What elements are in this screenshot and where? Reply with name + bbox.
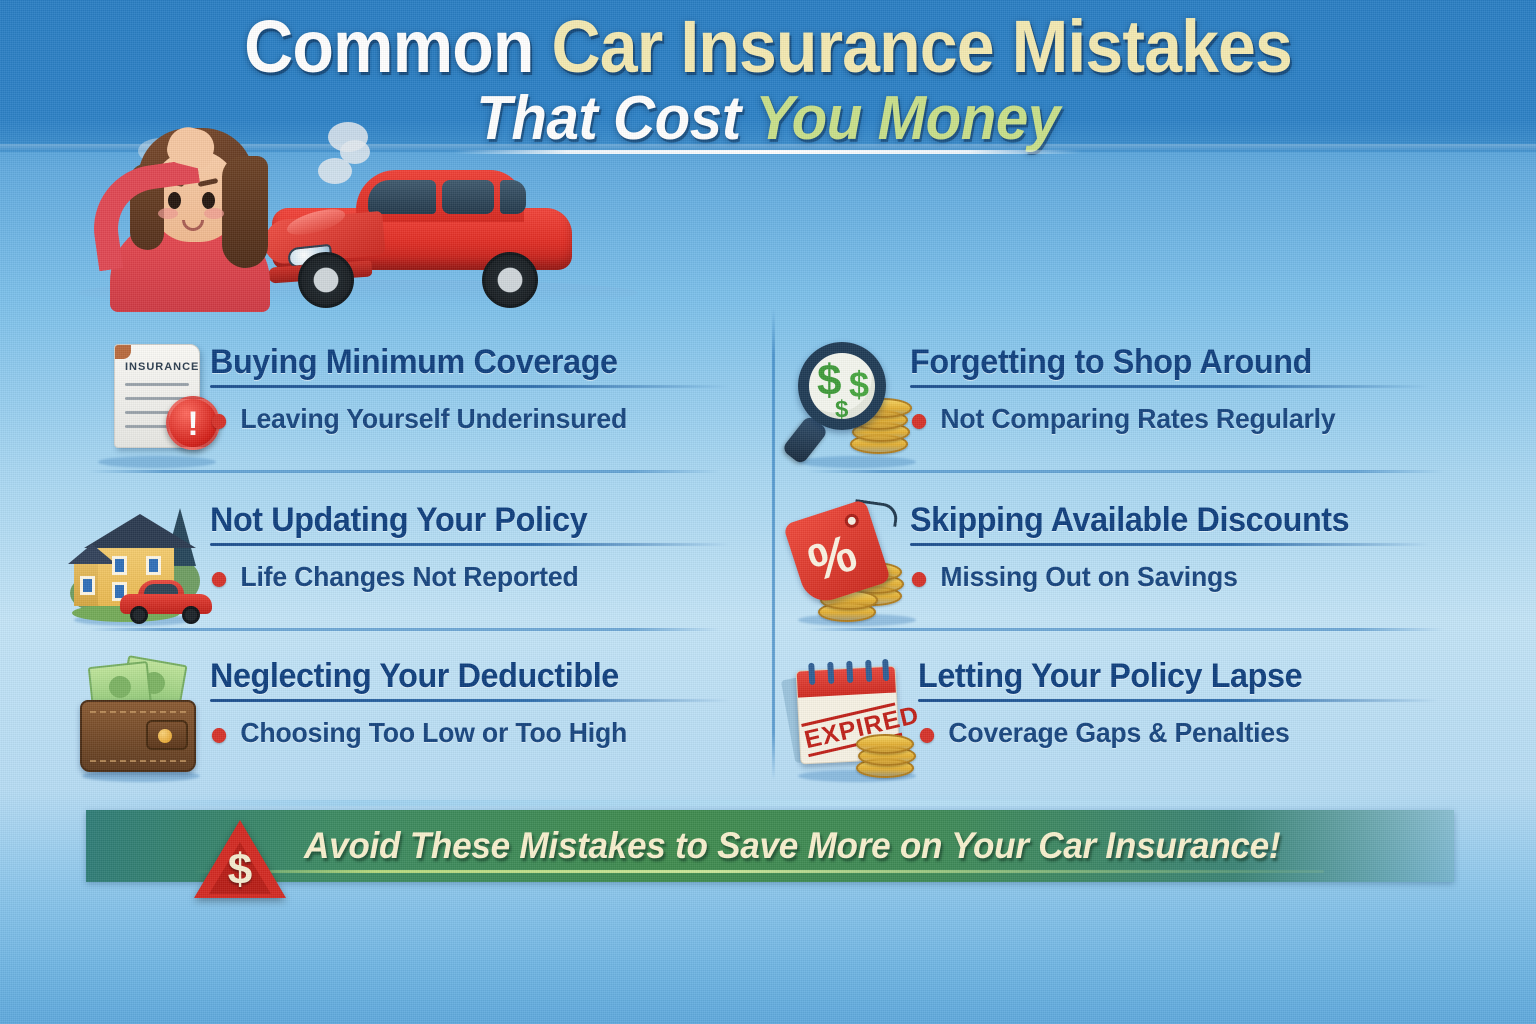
calendar-ring-1 bbox=[808, 663, 815, 685]
mistake-item-neglecting-your-deductible[interactable]: Neglecting Your Deductible Choosing Too … bbox=[76, 648, 776, 798]
dollar-sign-small: $ bbox=[835, 397, 848, 423]
car-window-rear bbox=[500, 180, 526, 214]
title-underline-rule bbox=[454, 150, 1082, 154]
car-tyre-rear bbox=[182, 606, 200, 624]
mistake-subtitle: Not Comparing Rates Regularly bbox=[910, 402, 1461, 436]
mistake-item-letting-your-policy-lapse[interactable]: EXPIRED Letting Your Policy Lapse Covera… bbox=[792, 648, 1492, 798]
house-window-1 bbox=[112, 556, 127, 575]
banknote-oval bbox=[108, 675, 132, 699]
mistake-item-skipping-available-discounts[interactable]: % Skipping Available Discounts Missing O… bbox=[792, 492, 1492, 642]
mistake-title: Neglecting Your Deductible bbox=[210, 656, 761, 696]
document-label: INSURANCE bbox=[125, 361, 199, 373]
mistake-subtitle-text: Missing Out on Savings bbox=[940, 561, 1237, 592]
infographic-poster: Common Car Insurance Mistakes That Cost … bbox=[0, 0, 1536, 1024]
house-and-car-icon bbox=[68, 498, 208, 628]
mistake-text-block: Letting Your Policy Lapse Coverage Gaps … bbox=[918, 656, 1498, 750]
coin bbox=[856, 734, 914, 754]
magnifier-lens: $ $ $ bbox=[798, 342, 886, 430]
document-corner-fold bbox=[115, 345, 131, 359]
mistake-subtitle: Leaving Yourself Underinsured bbox=[210, 402, 761, 436]
document-line-1 bbox=[125, 383, 189, 386]
expired-calendar-coins-icon: EXPIRED bbox=[792, 654, 932, 784]
title-rule bbox=[210, 699, 730, 702]
poster-title-line-1: Common Car Insurance Mistakes bbox=[61, 6, 1474, 88]
mistake-title: Letting Your Policy Lapse bbox=[918, 656, 1469, 696]
title-part-car-insurance-mistakes: Car Insurance Mistakes bbox=[552, 5, 1292, 88]
mistake-item-forgetting-to-shop-around[interactable]: $ $ $ Forgetting to Shop Around Not Comp… bbox=[792, 334, 1492, 484]
woman-blush-right bbox=[204, 208, 224, 219]
red-car bbox=[120, 580, 212, 620]
car-tyre-front bbox=[130, 606, 148, 624]
mistake-title: Forgetting to Shop Around bbox=[910, 342, 1461, 382]
mistake-text-block: Buying Minimum Coverage Leaving Yourself… bbox=[210, 342, 790, 436]
mistake-text-block: Neglecting Your Deductible Choosing Too … bbox=[210, 656, 790, 750]
calendar-ring-4 bbox=[865, 660, 872, 682]
mistake-title: Not Updating Your Policy bbox=[210, 500, 761, 540]
car-window-mid bbox=[442, 180, 494, 214]
mistake-subtitle: Life Changes Not Reported bbox=[210, 560, 761, 594]
mistake-text-block: Forgetting to Shop Around Not Comparing … bbox=[910, 342, 1490, 436]
calendar-ring-3 bbox=[846, 661, 853, 683]
icon-shadow bbox=[798, 456, 916, 468]
title-part-common: Common bbox=[244, 5, 551, 88]
wallet-stitch-top bbox=[90, 711, 186, 713]
mistake-subtitle: Choosing Too Low or Too High bbox=[210, 716, 761, 750]
mistake-subtitle-text: Leaving Yourself Underinsured bbox=[240, 403, 627, 434]
title-rule bbox=[210, 543, 730, 546]
mistake-title: Skipping Available Discounts bbox=[910, 500, 1461, 540]
bullet-dot-icon bbox=[920, 728, 934, 743]
icon-shadow bbox=[98, 456, 216, 468]
wallet-cash-icon bbox=[76, 654, 216, 784]
calendar-ring-2 bbox=[827, 662, 834, 684]
footer-highlight-line bbox=[86, 800, 1454, 806]
car-window-front bbox=[368, 180, 436, 214]
bullet-dot-icon bbox=[212, 728, 226, 743]
mistake-subtitle: Coverage Gaps & Penalties bbox=[918, 716, 1469, 750]
poster-title-block: Common Car Insurance Mistakes That Cost … bbox=[0, 6, 1536, 154]
mistake-subtitle-text: Coverage Gaps & Penalties bbox=[948, 717, 1289, 748]
coin-stack bbox=[854, 730, 920, 776]
mistake-item-buying-minimum-coverage[interactable]: INSURANCE ! Buying Minimum Coverage Leav… bbox=[92, 334, 792, 484]
calendar-ring-5 bbox=[882, 659, 889, 681]
mistake-subtitle: Missing Out on Savings bbox=[910, 560, 1461, 594]
woman-hair-right bbox=[222, 156, 268, 268]
bullet-dot-icon bbox=[212, 414, 226, 429]
subtitle-part-you-money: You Money bbox=[755, 84, 1059, 153]
woman-arm bbox=[86, 159, 211, 272]
mistake-text-block: Skipping Available Discounts Missing Out… bbox=[910, 500, 1490, 594]
mistake-title: Buying Minimum Coverage bbox=[210, 342, 761, 382]
wallet-snap-button bbox=[158, 729, 172, 743]
house-wing-window bbox=[80, 576, 95, 595]
mistake-item-not-updating-your-policy[interactable]: Not Updating Your Policy Life Changes No… bbox=[68, 492, 768, 642]
damaged-car-icon bbox=[264, 160, 584, 300]
house-window-2 bbox=[146, 556, 161, 575]
title-rule bbox=[910, 543, 1430, 546]
dollar-symbol: $ bbox=[194, 848, 286, 892]
woman-eye-right bbox=[202, 192, 215, 209]
house-roof bbox=[84, 514, 196, 548]
bullet-dot-icon bbox=[912, 572, 926, 587]
dollar-sign-medium: $ bbox=[849, 365, 869, 405]
mistake-text-block: Not Updating Your Policy Life Changes No… bbox=[210, 500, 790, 594]
mistake-subtitle-text: Choosing Too Low or Too High bbox=[240, 717, 627, 748]
mistakes-grid: INSURANCE ! Buying Minimum Coverage Leav… bbox=[0, 300, 1536, 790]
wallet-stitch-bottom bbox=[90, 760, 186, 762]
footer-call-to-action-banner[interactable]: $ Avoid These Mistakes to Save More on Y… bbox=[86, 810, 1454, 882]
percent-symbol: % bbox=[802, 526, 863, 592]
subtitle-part-that-cost: That Cost bbox=[476, 84, 755, 153]
warning-triangle-dollar-icon: $ bbox=[194, 820, 286, 900]
title-rule bbox=[910, 385, 1430, 388]
house-wing-roof bbox=[68, 544, 116, 564]
footer-message: Avoid These Mistakes to Save More on You… bbox=[304, 822, 1368, 870]
document-line-4 bbox=[125, 425, 169, 428]
poster-title-line-2: That Cost You Money bbox=[46, 84, 1490, 154]
mistake-subtitle-text: Life Changes Not Reported bbox=[240, 561, 578, 592]
wallet-body bbox=[80, 700, 196, 772]
bullet-dot-icon bbox=[912, 414, 926, 429]
title-rule bbox=[918, 699, 1438, 702]
mistake-subtitle-text: Not Comparing Rates Regularly bbox=[940, 403, 1335, 434]
title-rule bbox=[210, 385, 730, 388]
bullet-dot-icon bbox=[212, 572, 226, 587]
